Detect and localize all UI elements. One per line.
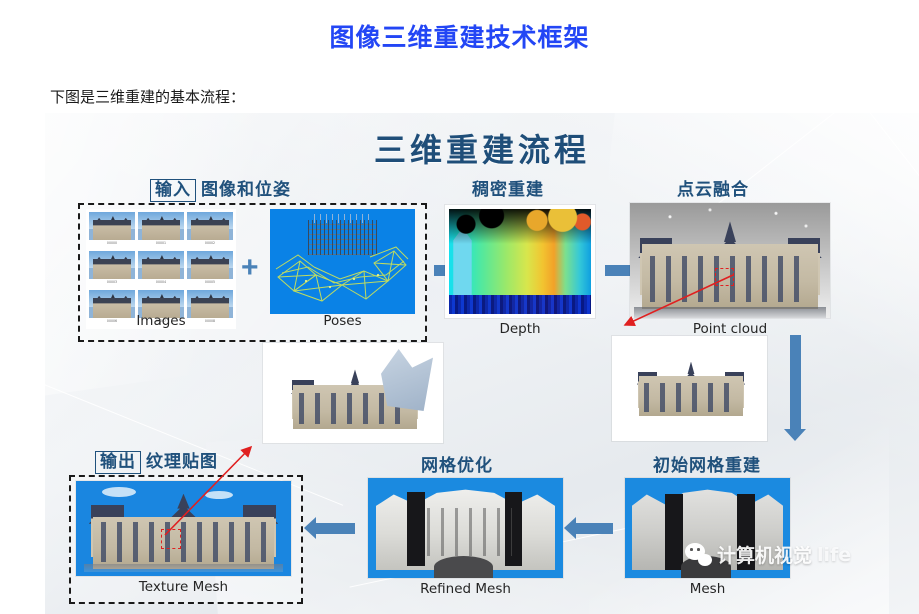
stage-heading-input: 输入图像和位姿 bbox=[150, 175, 291, 202]
image-thumbnail: 00004 bbox=[138, 251, 184, 287]
texture-annotation-arrow bbox=[145, 443, 265, 543]
arrow-pointcloud-to-mesh bbox=[790, 335, 801, 430]
watermark-suffix: life bbox=[817, 544, 851, 566]
output-tag: 输出 bbox=[95, 451, 141, 474]
join-plus-icon: + bbox=[241, 253, 259, 283]
image-thumbnail: 00000 bbox=[89, 212, 135, 248]
depth-map-image bbox=[449, 209, 591, 314]
wechat-icon bbox=[685, 543, 712, 566]
thumbnail-label: 00003 bbox=[89, 278, 135, 287]
refinement-heading-text: 网格优化 bbox=[421, 456, 493, 476]
camera-frustum-graph bbox=[270, 209, 415, 314]
caption-depth: Depth bbox=[445, 321, 595, 337]
input-heading-text: 图像和位姿 bbox=[201, 180, 291, 200]
caption-mesh: Mesh bbox=[625, 581, 790, 597]
thumbnail-label: 00001 bbox=[138, 239, 184, 248]
caption-images: Images bbox=[86, 313, 236, 329]
watermark-brand: 计算机视觉 bbox=[717, 541, 812, 568]
thumbnail-label: 00005 bbox=[187, 278, 233, 287]
page-subtitle: 下图是三维重建的基本流程： bbox=[50, 86, 245, 107]
initial-mesh-heading-text: 初始网格重建 bbox=[653, 456, 761, 476]
caption-texture-mesh: Texture Mesh bbox=[76, 579, 291, 595]
watermark: 计算机视觉 life bbox=[685, 541, 851, 568]
diagram-title: 三维重建流程 bbox=[45, 125, 919, 171]
image-thumbnail: 00001 bbox=[138, 212, 184, 248]
page-root: 图像三维重建技术框架 下图是三维重建的基本流程： 三维重建流程 输入图像和位姿 … bbox=[0, 0, 919, 614]
thumbnail-label: 00000 bbox=[89, 239, 135, 248]
caption-refined-mesh: Refined Mesh bbox=[368, 581, 563, 597]
image-thumbnail: 00003 bbox=[89, 251, 135, 287]
image-thumbnail: 00002 bbox=[187, 212, 233, 248]
thumbnail-label: 00002 bbox=[187, 239, 233, 248]
stage-heading-pointcloud: 点云融合 bbox=[677, 175, 749, 200]
poses-panel bbox=[270, 209, 415, 314]
chateau-render bbox=[632, 350, 750, 422]
images-thumbnail-grid: 00000 00001 00002 00003 00004 00005 0000… bbox=[86, 209, 236, 329]
stage-heading-refinement: 网格优化 bbox=[421, 451, 493, 476]
thumbnail-label: 00004 bbox=[138, 278, 184, 287]
pointcloud-heading-text: 点云融合 bbox=[677, 180, 749, 200]
caption-poses: Poses bbox=[270, 313, 415, 329]
dense-heading-text: 稠密重建 bbox=[472, 180, 544, 200]
page-title: 图像三维重建技术框架 bbox=[0, 18, 919, 54]
refined-mesh-image bbox=[368, 478, 563, 578]
refined-mesh-frame bbox=[368, 478, 563, 578]
intermediate-render-left bbox=[263, 343, 443, 443]
stage-heading-dense: 稠密重建 bbox=[472, 175, 544, 200]
arrow-mesh-to-refined bbox=[575, 523, 613, 534]
pointcloud-annotation-arrow bbox=[605, 263, 745, 343]
image-thumbnail: 00005 bbox=[187, 251, 233, 287]
intermediate-render-right bbox=[612, 336, 767, 441]
pipeline-diagram: 三维重建流程 输入图像和位姿 00000 00001 00002 00003 0… bbox=[45, 113, 919, 614]
depth-frame bbox=[445, 205, 595, 318]
stage-heading-initial-mesh: 初始网格重建 bbox=[653, 451, 761, 476]
input-tag: 输入 bbox=[150, 179, 196, 202]
arrow-refined-to-texture bbox=[315, 523, 355, 534]
